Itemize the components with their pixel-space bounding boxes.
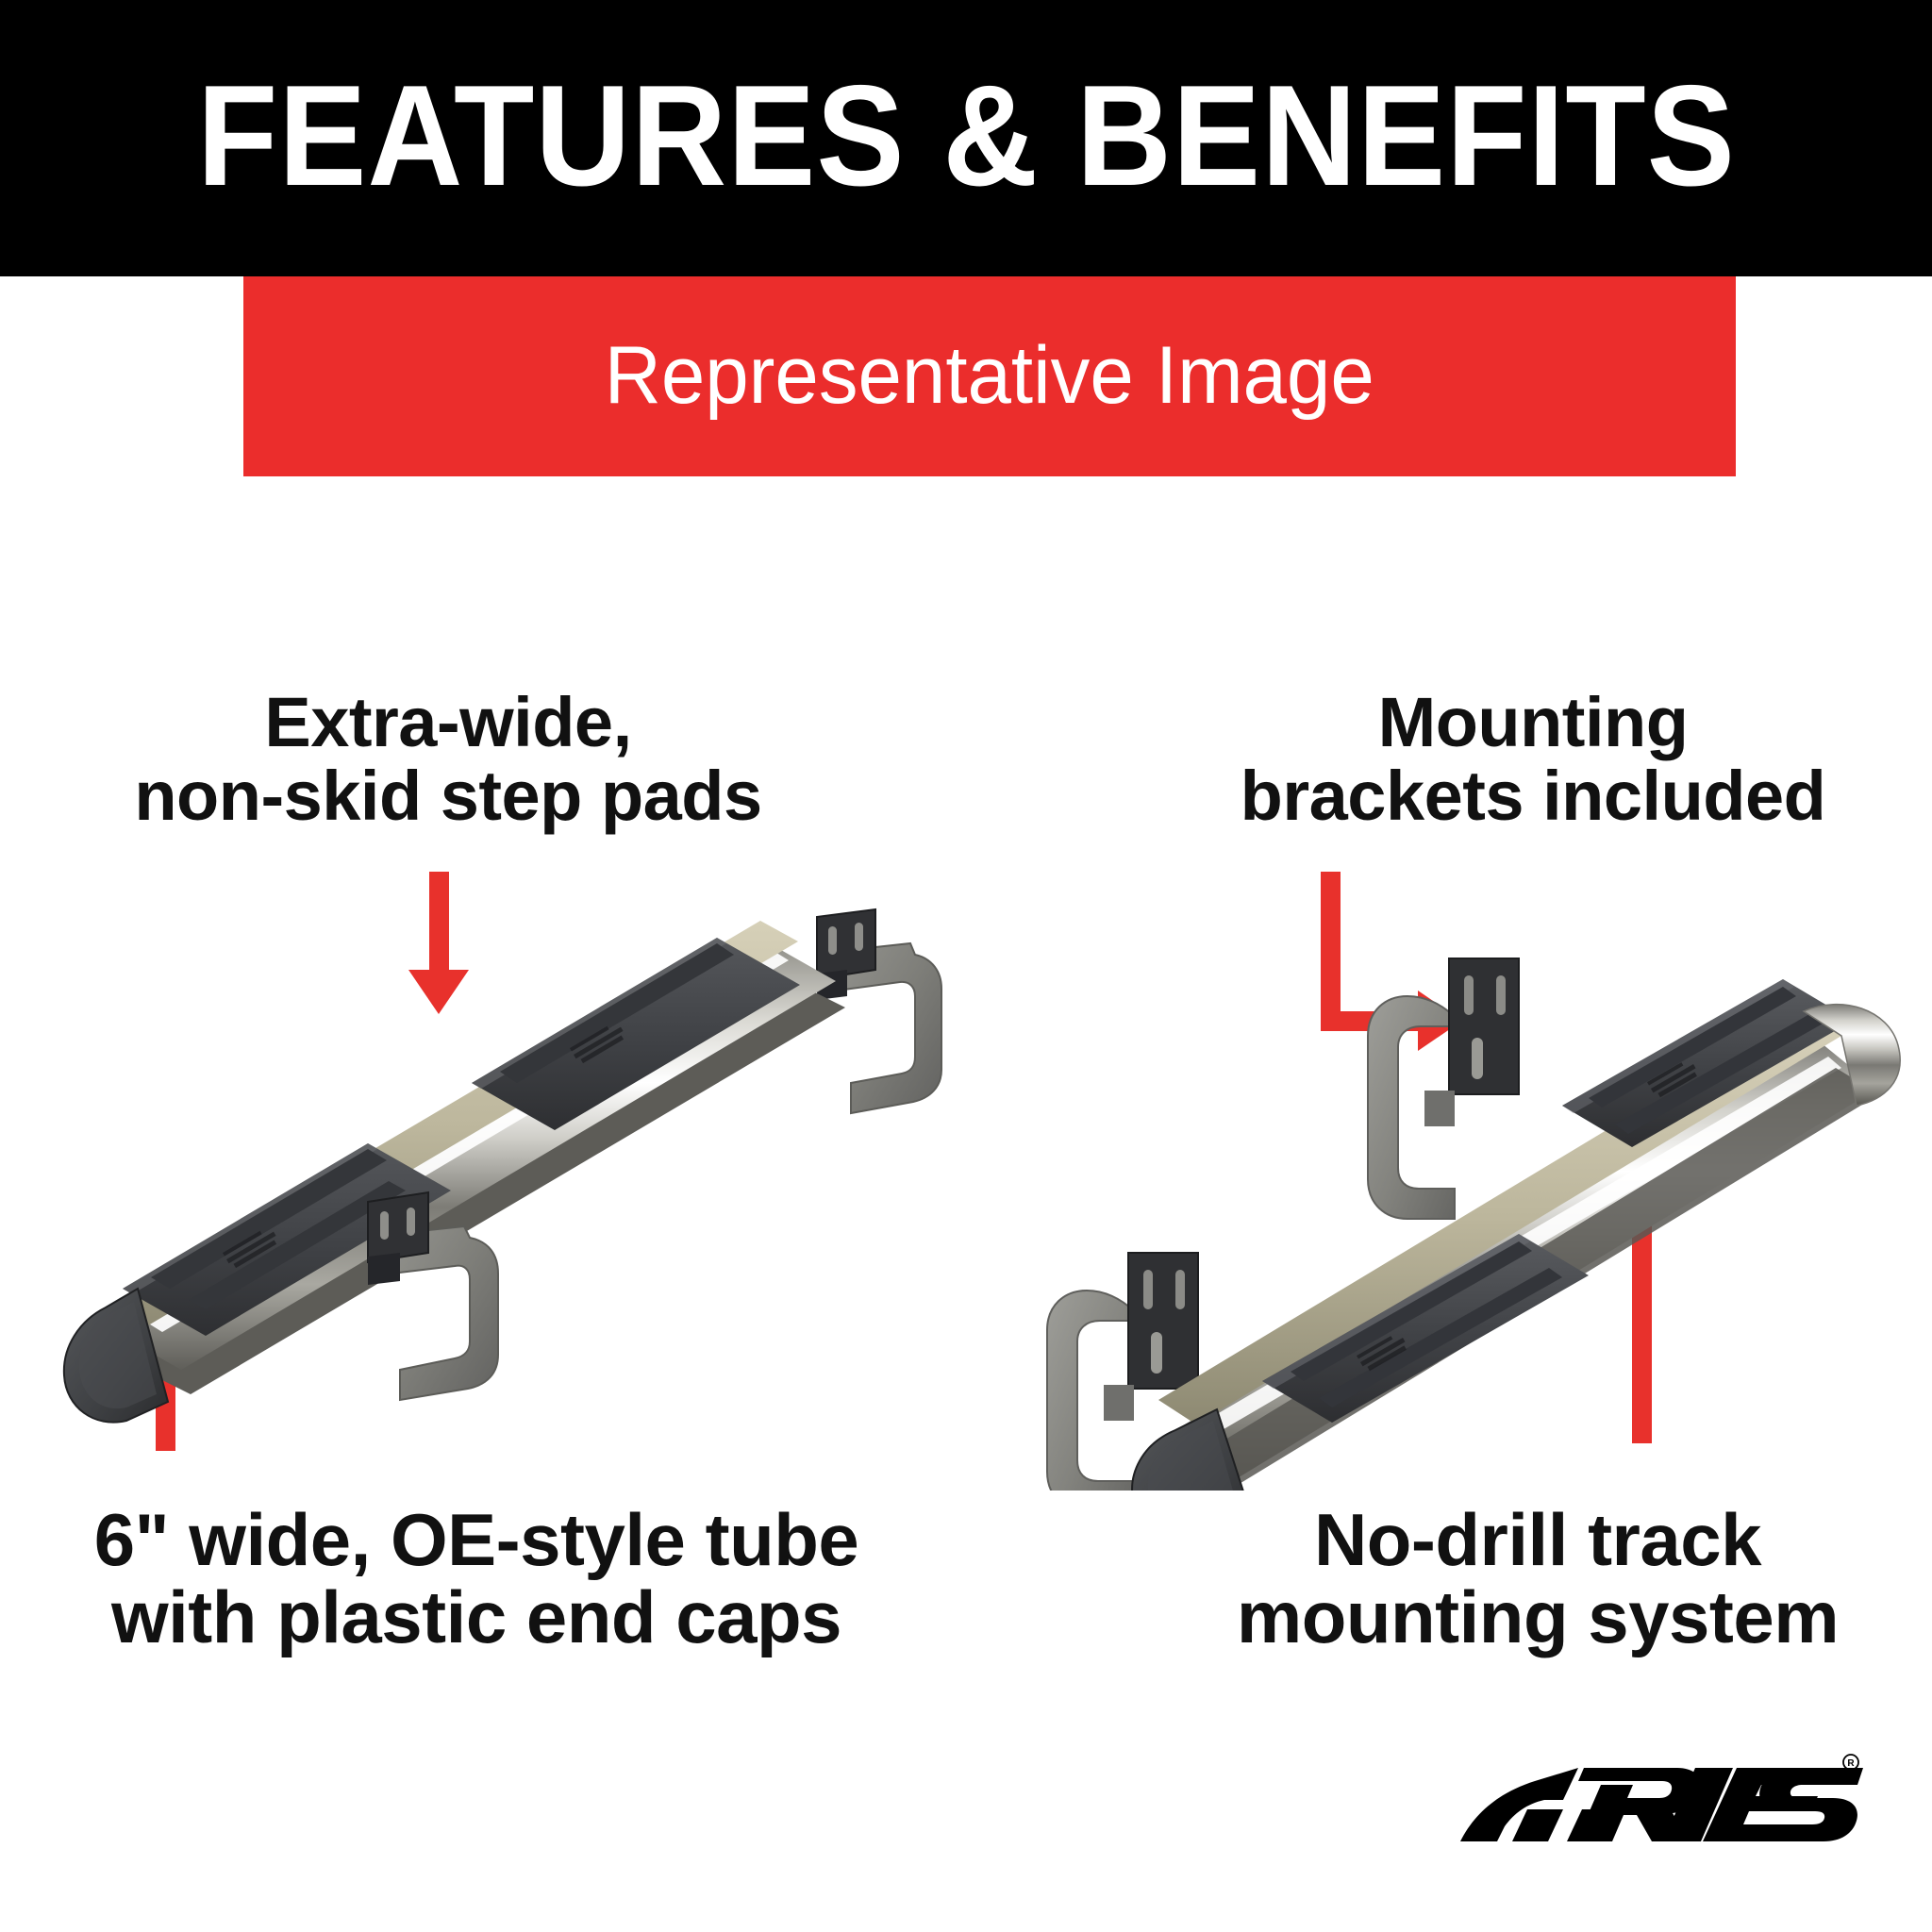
callout-label-no-drill-track: No-drill track mounting system [1151, 1502, 1924, 1657]
representative-image-banner: Representative Image [243, 276, 1736, 476]
banner-label: Representative Image [605, 335, 1374, 416]
aries-logo: R [1457, 1751, 1863, 1850]
callout-label-mounting-brackets: Mounting brackets included [1160, 686, 1906, 832]
callout-label-step-pads: Extra-wide, non-skid step pads [57, 686, 840, 832]
header-bar: FEATURES & BENEFITS [0, 0, 1932, 276]
mounting-bracket-detached-rear [1368, 958, 1519, 1219]
aries-wordmark [1460, 1768, 1863, 1841]
svg-text:R: R [1847, 1758, 1855, 1769]
registered-trademark-icon: R [1843, 1755, 1858, 1770]
product-image-running-board-right [1028, 906, 1932, 1491]
page-title: FEATURES & BENEFITS [197, 64, 1736, 208]
callout-label-oe-style-tube: 6" wide, OE-style tube with plastic end … [38, 1502, 915, 1657]
product-image-running-board-left [57, 830, 1000, 1434]
